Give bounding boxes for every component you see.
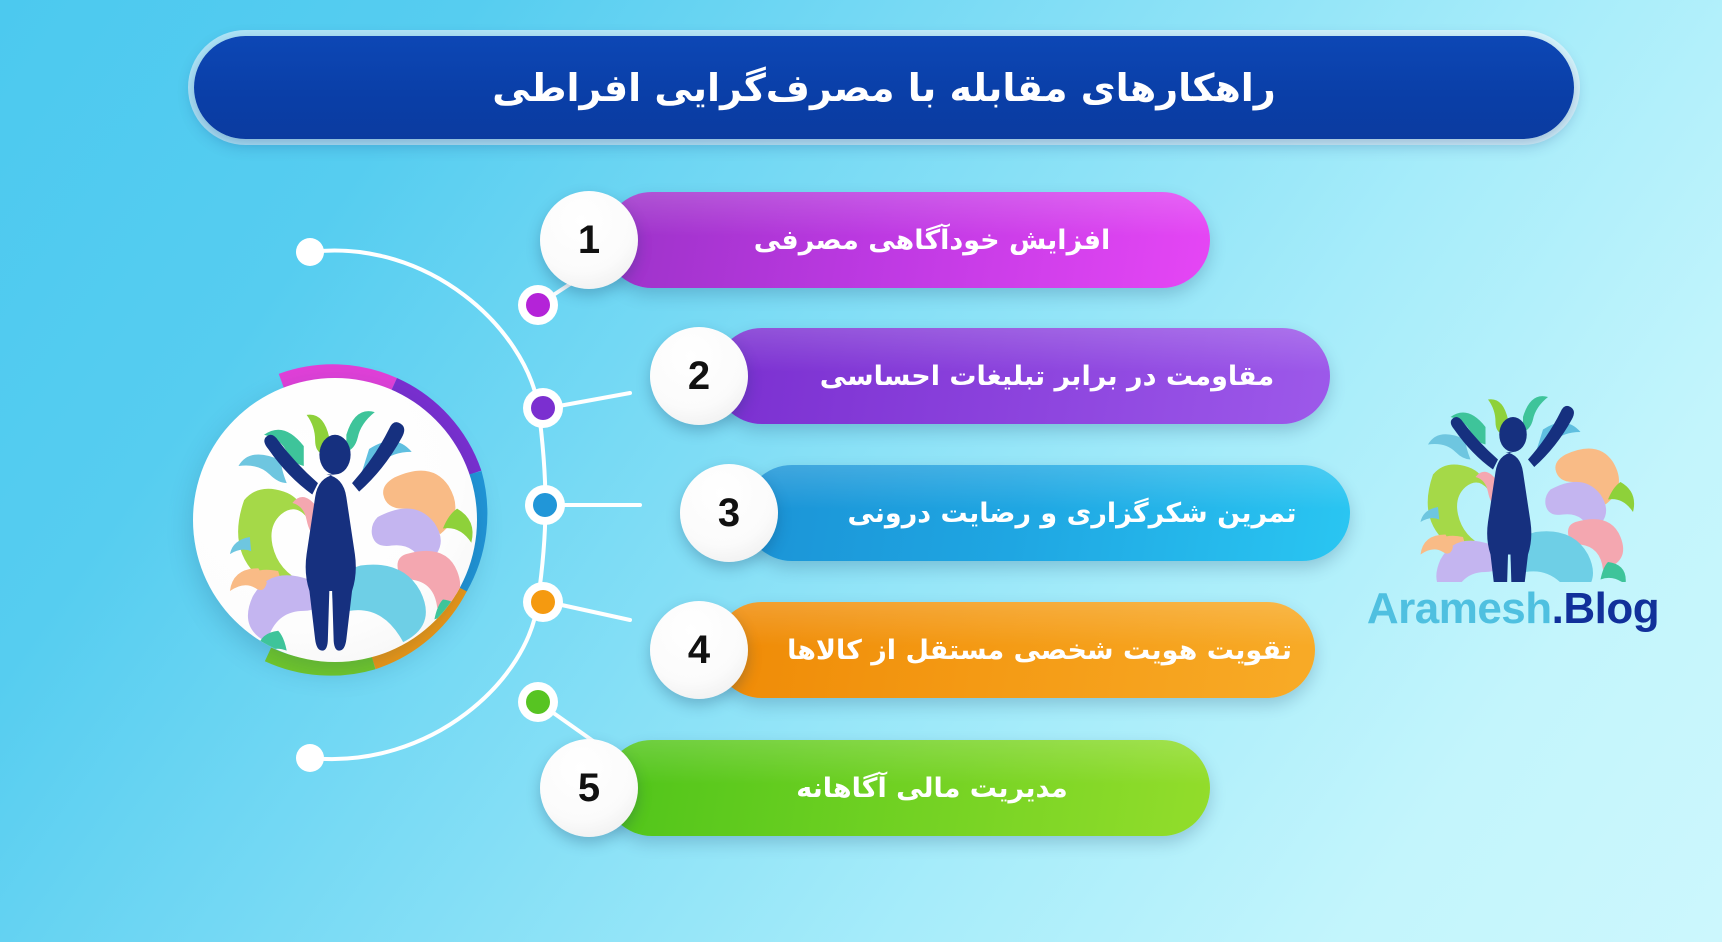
- list-item: تقویت هویت شخصی مستقل از کالاها 4: [650, 602, 1315, 698]
- item-pill-5[interactable]: مدیریت مالی آگاهانه: [604, 740, 1210, 836]
- brand-name-primary: Aramesh: [1367, 584, 1552, 633]
- item-badge-5[interactable]: 5: [540, 739, 638, 837]
- list-item: افزایش خودآگاهی مصرفی 1: [540, 192, 1210, 288]
- item-label-3: تمرین شکرگزاری و رضایت درونی: [763, 498, 1330, 529]
- item-badge-2[interactable]: 2: [650, 327, 748, 425]
- brand-name-secondary: .Blog: [1552, 584, 1659, 633]
- title-banner: راهکارهای مقابله با مصرف‌گرایی افراطی: [188, 30, 1580, 145]
- item-number-4: 4: [688, 630, 710, 670]
- item-label-1: افزایش خودآگاهی مصرفی: [670, 225, 1145, 256]
- item-label-5: مدیریت مالی آگاهانه: [712, 773, 1102, 804]
- connector-node-dot-2[interactable]: [531, 396, 555, 420]
- infographic-canvas: راهکارهای مقابله با مصرف‌گرایی افراطی: [0, 0, 1722, 942]
- emblem-logo: [193, 378, 477, 662]
- connector-endpoint-top: [296, 238, 324, 266]
- connector-node-dot-5[interactable]: [526, 690, 550, 714]
- item-number-2: 2: [688, 356, 710, 396]
- connector-node-dot-1[interactable]: [526, 293, 550, 317]
- item-badge-1[interactable]: 1: [540, 191, 638, 289]
- item-pill-1[interactable]: افزایش خودآگاهی مصرفی: [604, 192, 1210, 288]
- item-number-1: 1: [578, 220, 600, 260]
- item-pill-3[interactable]: تمرین شکرگزاری و رضایت درونی: [744, 465, 1350, 561]
- item-label-4: تقویت هویت شخصی مستقل از کالاها: [714, 635, 1315, 666]
- emblem-disc: [193, 378, 477, 662]
- item-number-3: 3: [718, 493, 740, 533]
- connector-node-dot-3[interactable]: [533, 493, 557, 517]
- connector-endpoint-bottom: [296, 744, 324, 772]
- brand-block: Aramesh.Blog: [1348, 382, 1678, 652]
- connector-node-dot-4[interactable]: [531, 590, 555, 614]
- emblem: [175, 360, 495, 680]
- item-number-5: 5: [578, 768, 600, 808]
- item-pill-4[interactable]: تقویت هویت شخصی مستقل از کالاها: [714, 602, 1315, 698]
- brand-name: Aramesh.Blog: [1348, 584, 1678, 634]
- item-badge-3[interactable]: 3: [680, 464, 778, 562]
- page-title: راهکارهای مقابله با مصرف‌گرایی افراطی: [492, 66, 1275, 110]
- brand-logo-icon: [1383, 382, 1643, 582]
- list-item: مقاومت در برابر تبلیغات احساسی 2: [650, 328, 1330, 424]
- item-label-2: مقاومت در برابر تبلیغات احساسی: [736, 361, 1308, 392]
- item-pill-2[interactable]: مقاومت در برابر تبلیغات احساسی: [714, 328, 1330, 424]
- title-bar: راهکارهای مقابله با مصرف‌گرایی افراطی: [194, 36, 1574, 139]
- list-item: تمرین شکرگزاری و رضایت درونی 3: [680, 465, 1350, 561]
- list-item: مدیریت مالی آگاهانه 5: [540, 740, 1210, 836]
- item-badge-4[interactable]: 4: [650, 601, 748, 699]
